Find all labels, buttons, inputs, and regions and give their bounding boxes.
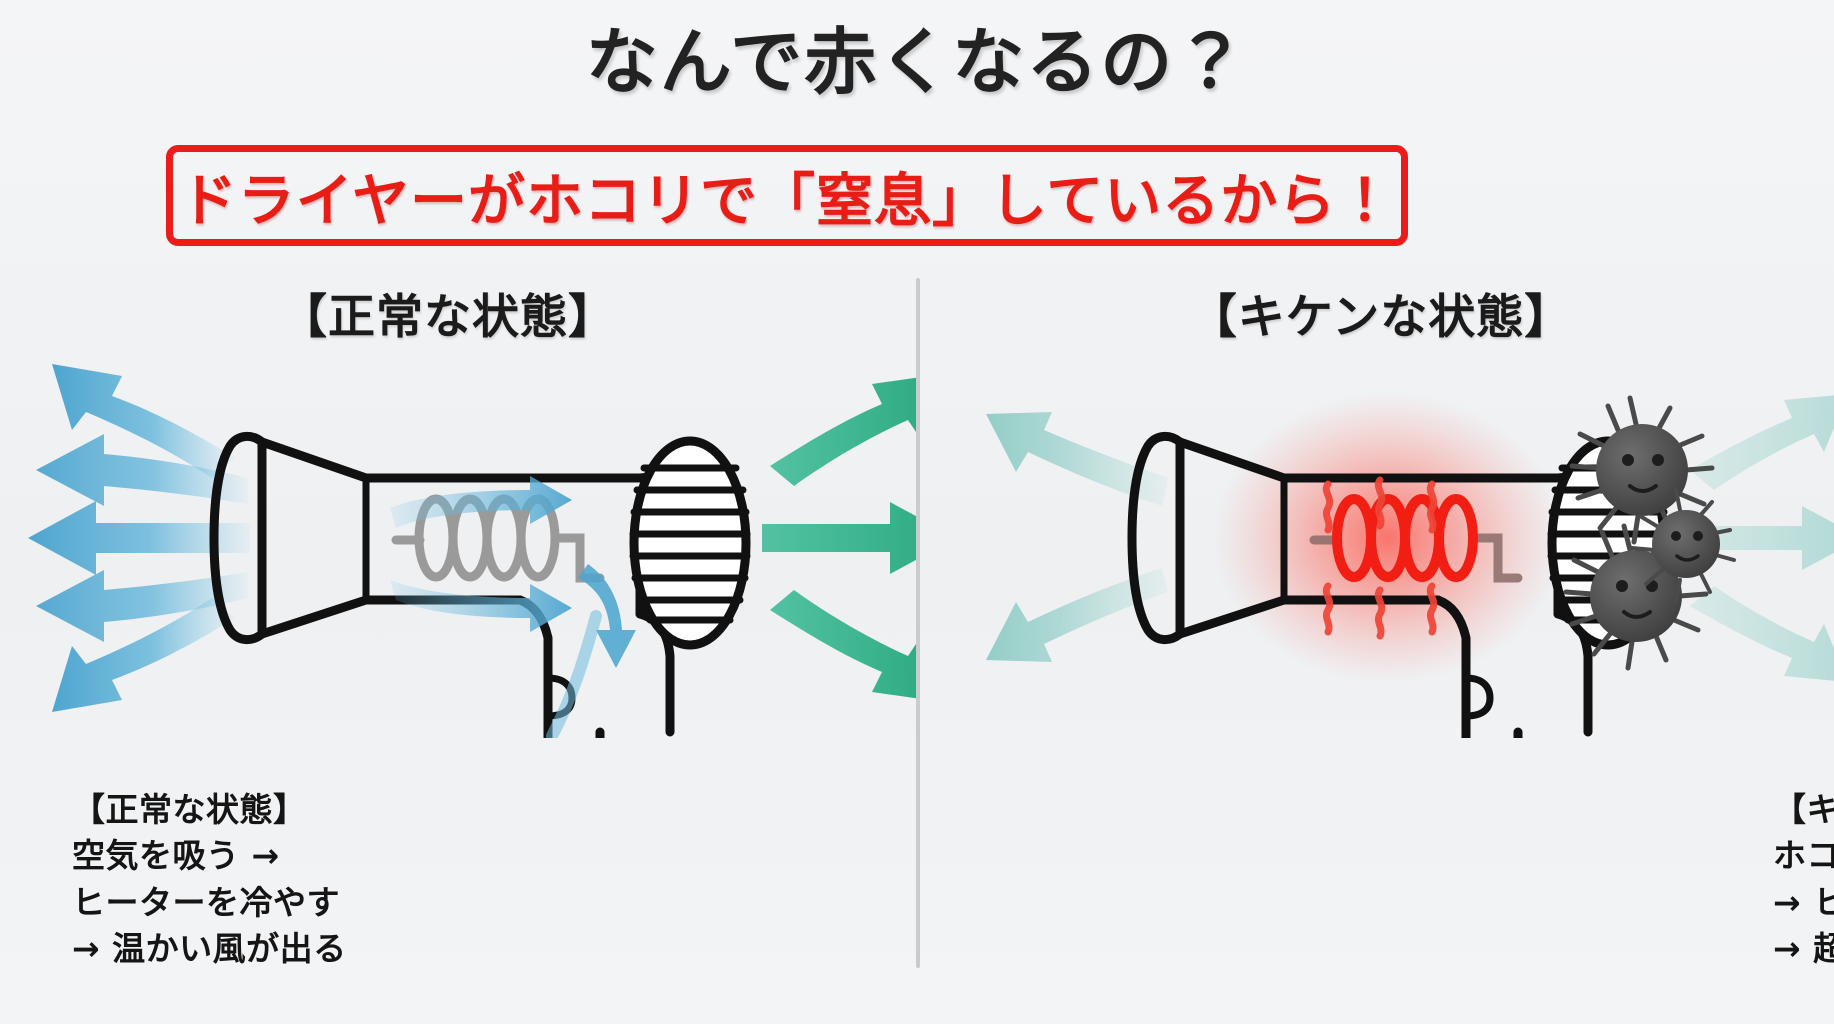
headline-text: ドライヤーがホコリで「窒息」しているから！ <box>180 155 1395 237</box>
page-title: なんで赤くなるの？ <box>0 26 1834 98</box>
panel-danger-state: 【キケンな状態】 <box>918 270 1834 1010</box>
caption-line-final: → 超高温（500℃以上！）になって赤く光る！ <box>1773 926 1834 972</box>
caption-line: ヒーターを冷やす <box>72 880 347 926</box>
caption-normal-state: 【正常な状態】 空気を吸う → ヒーターを冷やす → 温かい風が出る <box>72 787 347 972</box>
caption-line-final-text: → 超高温（500℃以上！）になって <box>1773 929 1834 968</box>
caption-line: → 温かい風が出る <box>72 926 347 972</box>
heat-glow <box>1213 393 1563 683</box>
panel-normal-header: 【正常な状態】 <box>0 278 916 347</box>
air-intake-grille <box>633 441 747 645</box>
caption-line: 【正常な状態】 <box>72 787 347 833</box>
panel-danger-header: 【キケンな状態】 <box>918 278 1834 347</box>
headline-callout-box: ドライヤーがホコリで「窒息」しているから！ <box>166 145 1408 246</box>
caption-line: 空気を吸う → <box>72 833 347 879</box>
caption-line: ホコリで空気の入口がふさがる <box>1773 833 1834 879</box>
caption-danger-state: 【キケンな状態】 ホコリで空気の入口がふさがる → ヒーターを冷やせない → 超… <box>1773 787 1834 972</box>
hair-dryer-normal-illustration <box>0 338 916 738</box>
caption-line: → ヒーターを冷やせない <box>1773 880 1834 926</box>
caption-line: 【キケンな状態】 <box>1773 787 1834 833</box>
panel-normal-state: 【正常な状態】 <box>0 270 916 1010</box>
intake-arrow-group <box>762 374 916 702</box>
infographic-page: なんで赤くなるの？ ドライヤーがホコリで「窒息」しているから！ 【正常な状態】 <box>0 0 1834 1024</box>
hair-dryer-danger-illustration <box>918 338 1834 738</box>
